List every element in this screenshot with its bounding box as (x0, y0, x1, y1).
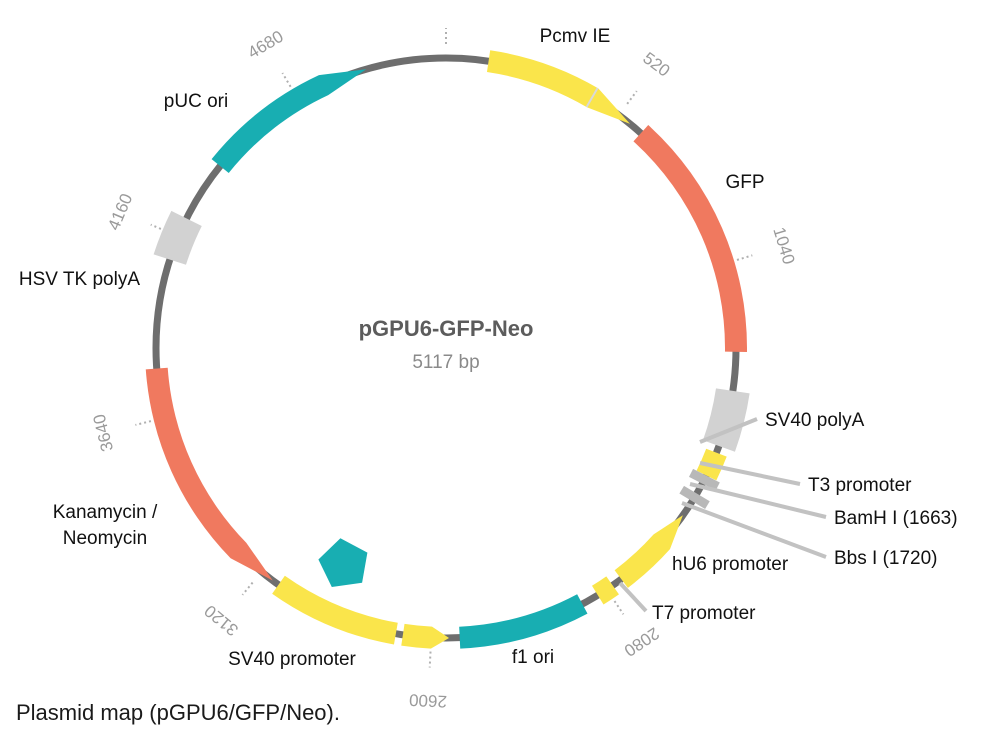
tick-2600: 2600 (409, 652, 448, 711)
label-hsv-tk-polya: HSV TK polyA (19, 269, 140, 290)
tick-mark (282, 73, 290, 87)
label-hu6-promoter: hU6 promoter (672, 554, 789, 575)
unlabeled-feature-pentagon-icon (318, 538, 367, 587)
tick-mark (615, 601, 624, 614)
label-puc-ori: pUC ori (164, 91, 228, 112)
feature-gfp (633, 125, 747, 352)
feature-f1-ori (459, 594, 587, 648)
feature-kanamycin-neomycin (146, 368, 273, 581)
label-f1-ori: f1 ori (512, 647, 554, 668)
leader-line-layer (620, 419, 826, 611)
label-gfp: GFP (725, 172, 764, 193)
feature-hu6-promoter (615, 515, 683, 588)
feature-label-layer: Pcmv IEGFPSV40 polyAT3 promoterBamH I (1… (19, 26, 958, 670)
figure-caption: Plasmid map (pGPU6/GFP/Neo). (16, 700, 340, 726)
tick-label: 3120 (201, 601, 242, 640)
feature-hsv-tk-polya (154, 211, 202, 265)
tick-520: 520 (627, 48, 673, 103)
feature-pcmv-ie (487, 50, 630, 124)
label-sv40-polya: SV40 polyA (765, 410, 865, 431)
tick-3120: 3120 (201, 583, 253, 640)
label-pcmv-ie: Pcmv IE (540, 26, 611, 47)
tick-label: 2600 (409, 690, 448, 711)
feature-puc-ori (212, 69, 367, 173)
tick-3640: 3640 (90, 412, 151, 453)
tick-mark (430, 652, 431, 668)
tick-mark (135, 421, 151, 425)
label-sv40-promoter: SV40 promoter (228, 649, 356, 670)
tick-label: 3640 (90, 412, 118, 453)
label-bamh-i-1663: BamH I (1663) (834, 508, 958, 529)
tick-label: 1040 (769, 225, 798, 267)
feature-sv40-polya (703, 388, 750, 451)
tick-label: 4680 (244, 27, 286, 63)
tick-mark (242, 583, 252, 595)
tick-mark (737, 255, 752, 260)
feature-layer (146, 50, 750, 648)
plasmid-size: 5117 bp (412, 352, 479, 373)
plasmid-map-figure: 5201040208026003120364041604680 Pcmv IEG… (0, 0, 982, 744)
tick-4680: 4680 (244, 27, 290, 87)
leader-line-t7-promoter (620, 583, 646, 611)
label-t7-promoter: T7 promoter (652, 603, 756, 624)
tick-label: 4160 (104, 191, 136, 233)
feature-feature (401, 624, 449, 649)
tick-1040: 1040 (737, 225, 798, 267)
label-kanamycin-neomycin: Kanamycin /Neomycin (53, 502, 158, 549)
plasmid-name: pGPU6-GFP-Neo (359, 316, 534, 341)
tick-4160: 4160 (104, 191, 165, 233)
tick-label: 2080 (621, 623, 663, 660)
decoration-layer (318, 538, 367, 587)
label-bbs-i-1720: Bbs I (1720) (834, 548, 938, 569)
center-text-group: pGPU6-GFP-Neo 5117 bp (359, 316, 534, 373)
tick-label: 520 (639, 48, 673, 80)
tick-mark (627, 91, 637, 104)
plasmid-map-svg: 5201040208026003120364041604680 Pcmv IEG… (0, 0, 982, 744)
label-t3-promoter: T3 promoter (808, 475, 912, 496)
